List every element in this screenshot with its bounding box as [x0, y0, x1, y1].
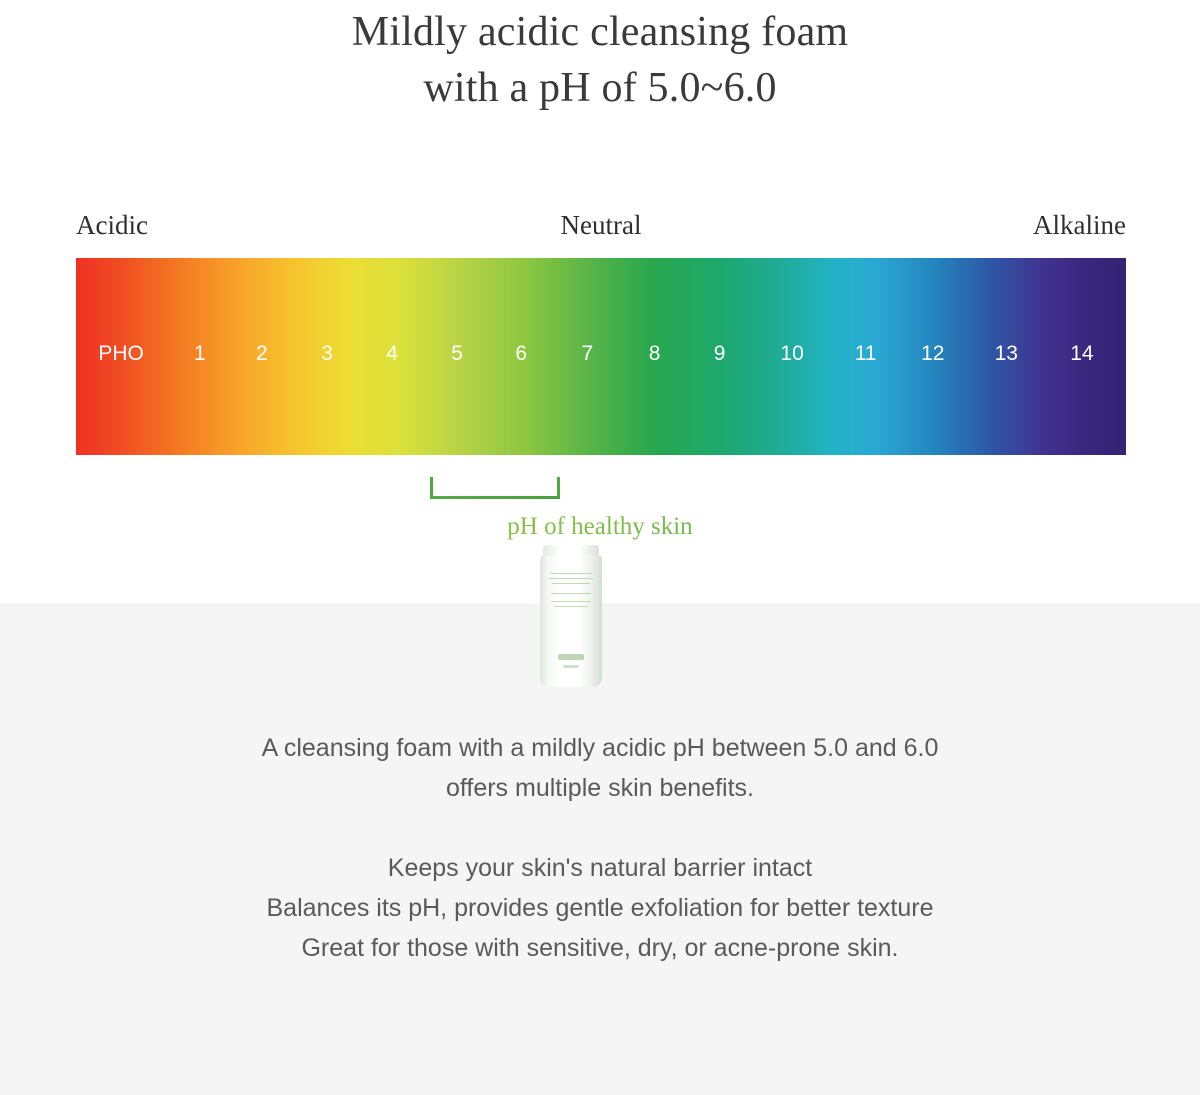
tube-brand-sublabel — [563, 665, 579, 668]
benefits-intro: A cleansing foam with a mildly acidic pH… — [0, 728, 1200, 808]
label-alkaline: Alkaline — [1033, 210, 1126, 241]
healthy-ph-range-bracket — [430, 477, 560, 499]
label-neutral: Neutral — [76, 210, 1126, 241]
bracket-baseline — [430, 496, 560, 499]
benefits-intro-line-2: offers multiple skin benefits. — [0, 768, 1200, 808]
healthy-ph-label-text: pH of healthy skin — [507, 510, 692, 544]
ph-scale-section: Mildly acidic cleansing foam with a pH o… — [0, 0, 1200, 603]
ph-tick-10: 10 — [780, 342, 803, 366]
benefits-intro-line-1: A cleansing foam with a mildly acidic pH… — [0, 728, 1200, 768]
title-line-2: with a pH of 5.0~6.0 — [0, 60, 1200, 116]
page-title: Mildly acidic cleansing foam with a pH o… — [0, 4, 1200, 116]
benefits-list: Keeps your skin's natural barrier intact… — [0, 848, 1200, 968]
ph-gradient-bar: PHO1234567891011121314 — [76, 258, 1126, 455]
ph-tick-9: 9 — [714, 342, 726, 366]
ph-tick-8: 8 — [649, 342, 661, 366]
benefit-line-3: Great for those with sensitive, dry, or … — [0, 928, 1200, 968]
ph-tick-7: 7 — [582, 342, 594, 366]
scale-axis-labels: Acidic Neutral Alkaline — [76, 210, 1126, 250]
ph-tick-11: 11 — [855, 342, 877, 366]
ph-tick-2: 2 — [256, 342, 268, 366]
ph-tick-6: 6 — [515, 342, 527, 366]
benefit-line-1: Keeps your skin's natural barrier intact — [0, 848, 1200, 888]
product-tube-image — [540, 545, 602, 687]
tube-brand-logo — [558, 654, 584, 660]
ph-tick-13: 13 — [995, 342, 1018, 366]
ph-tick-3: 3 — [321, 342, 333, 366]
title-line-1: Mildly acidic cleansing foam — [0, 4, 1200, 60]
benefit-line-2: Balances its pH, provides gentle exfolia… — [0, 888, 1200, 928]
ph-tick-1: 1 — [194, 342, 206, 366]
ph-tick-14: 14 — [1070, 342, 1093, 366]
ph-tick-12: 12 — [921, 342, 944, 366]
ph-tick-pho: PHO — [98, 342, 144, 366]
healthy-ph-label: pH of healthy skin — [0, 510, 1200, 544]
ph-tick-labels: PHO1234567891011121314 — [76, 258, 1126, 455]
ph-tick-4: 4 — [386, 342, 398, 366]
tube-body — [540, 555, 602, 687]
ph-tick-5: 5 — [451, 342, 463, 366]
